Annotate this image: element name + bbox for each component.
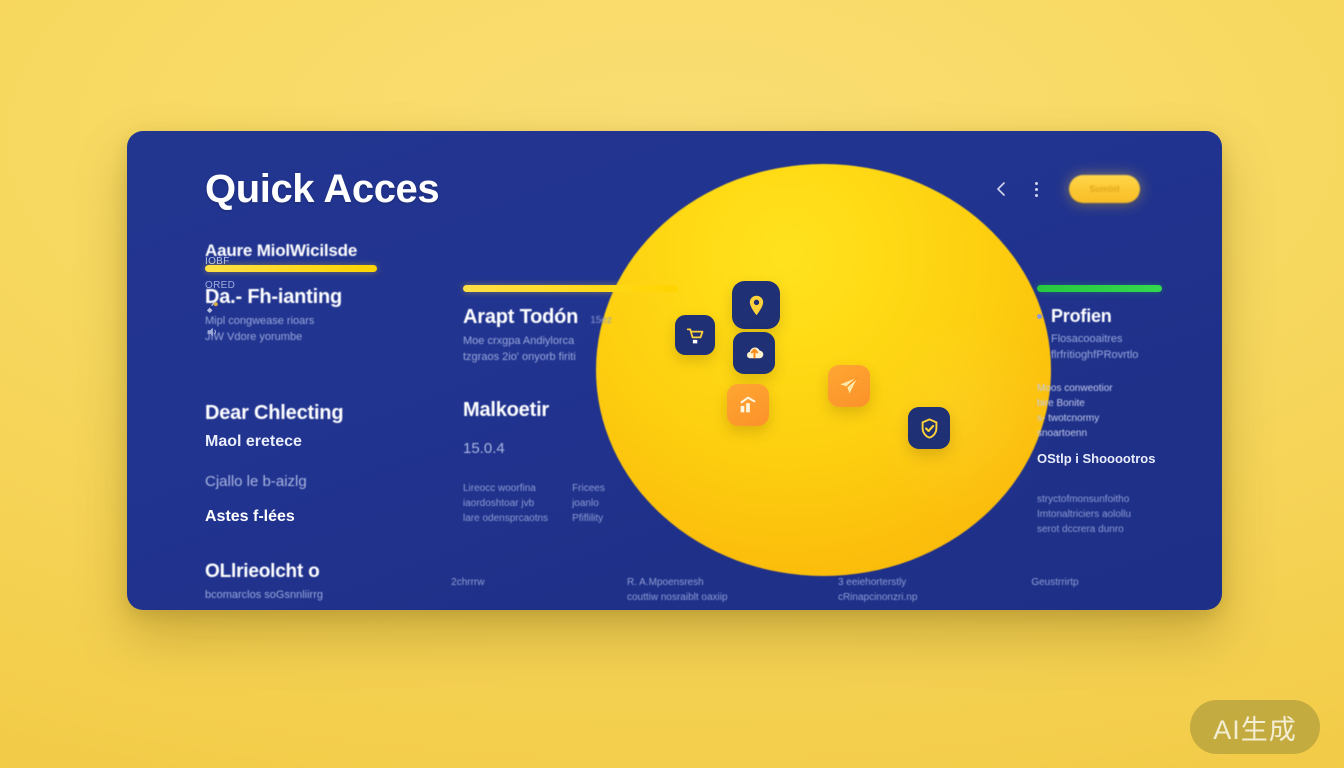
bottom-cell-3-line-1: cRinapcinonzri.np (838, 590, 1031, 605)
left-item-1[interactable]: Cjallo le b-aizlg (205, 473, 505, 490)
left-heading: Da.- Fh-ianting (205, 286, 505, 309)
right-body-3: snoartoenn (1037, 426, 1222, 441)
right-footer-0: stryctofmonsunfoitho (1037, 492, 1222, 507)
right-footer-2: serot dccrera dunro (1037, 522, 1222, 537)
dashboard-card: Quick Acces Sumbit IOBF ORED Aaure MiolW… (127, 131, 1222, 610)
right-body-2: s- twotcnormy (1037, 411, 1222, 426)
bottom-row: OLlrieolcht o bcomarclos soGsnnliirrg 2c… (205, 561, 1172, 605)
middle-detail-b-2: Pfiflility (572, 511, 605, 526)
bottom-primary: OLlrieolcht o bcomarclos soGsnnliirrg (205, 561, 451, 605)
right-heading: Profien (1051, 306, 1112, 327)
middle-detail-b-1: joanlo (572, 496, 605, 511)
bottom-cell-4: Geustrrirtp (1031, 561, 1172, 605)
right-footer-1: Imtonaltriciers aolollu (1037, 507, 1222, 522)
bullet-icon (1037, 314, 1042, 319)
left-item-2[interactable]: Astes f-lées (205, 508, 505, 526)
submit-button[interactable]: Sumbit (1069, 175, 1140, 203)
shield-app-icon[interactable] (908, 407, 950, 449)
bottom-sub: bcomarclos soGsnnliirrg (205, 588, 451, 604)
bottom-cell-4-line-0: Geustrrirtp (1031, 575, 1172, 590)
chevron-left-icon[interactable] (992, 180, 1010, 198)
header-controls: Sumbit (992, 175, 1140, 203)
page-title: Quick Acces (205, 167, 439, 212)
middle-heading: Arapt Todón (463, 306, 578, 329)
sphere-highlight (867, 311, 1057, 521)
column-right: Profien Flosacooaitres flrfritioghfPRovr… (1037, 241, 1222, 364)
middle-detail-0: Lireocc woorfina (463, 481, 548, 496)
left-eyebrow: Aaure MiolWicilsde (205, 241, 505, 261)
right-sub-0: Flosacooaitres (1051, 332, 1222, 348)
right-progress-bar (1037, 285, 1162, 292)
right-sub-1: flrfritioghfPRovrtlo (1051, 348, 1222, 364)
middle-detail-b-0: Fricees (572, 481, 605, 496)
chart-app-icon[interactable] (727, 384, 769, 426)
column-middle: Arapt Todón 15ez Moe crxgpa Andiylorca t… (463, 241, 763, 366)
middle-section: Malkoetir 15.0.4 (463, 399, 653, 457)
middle-section-heading[interactable]: Malkoetir (463, 399, 653, 422)
send-app-icon[interactable] (828, 365, 870, 407)
right-body-0: Moos conweotior (1037, 381, 1222, 396)
cloud-app-icon[interactable] (733, 332, 775, 374)
column-left: Aaure MiolWicilsde Da.- Fh-ianting Mipl … (205, 241, 505, 526)
bottom-cell-3-line-0: 3 eeiehorterstly (838, 575, 1031, 590)
middle-detail-block: Lireocc woorfina iaordoshtoar jvb lare o… (463, 481, 673, 526)
right-body-heading[interactable]: OStlp i Shooootros (1037, 451, 1222, 466)
left-progress-bar (205, 265, 377, 272)
middle-sub-0: Moe crxgpa Andiylorca (463, 334, 763, 350)
left-section-heading[interactable]: Dear Chlecting (205, 402, 505, 425)
location-app-icon[interactable] (732, 281, 780, 329)
left-section-sub: Maol eretece (205, 433, 505, 451)
bottom-cell-3: 3 eeiehorterstly cRinapcinonzri.np (838, 561, 1031, 605)
cart-app-icon[interactable] (675, 315, 715, 355)
left-sub-1: JIW Vdore yorumbe (205, 330, 505, 346)
middle-badge: 15ez (590, 313, 612, 328)
middle-sub-1: tzgraos 2io' onyorb firiti (463, 350, 763, 366)
right-body-1: bire Bonite (1037, 396, 1222, 411)
middle-detail-1: iaordoshtoar jvb (463, 496, 548, 511)
kebab-menu-icon[interactable] (1030, 179, 1043, 200)
bottom-cell-1: R. A.Mpoensresh couttiw nosraiblt oaxiip (627, 561, 838, 605)
bottom-cell-0-line-0: 2chrrrw (451, 575, 627, 590)
middle-detail-2: lare odensprcaotns (463, 511, 548, 526)
ai-watermark: AI生成 (1190, 700, 1320, 754)
middle-progress-bar (463, 285, 678, 292)
bottom-heading[interactable]: OLlrieolcht o (205, 561, 451, 583)
right-body: Moos conweotior bire Bonite s- twotcnorm… (1037, 381, 1222, 537)
left-sub-0: Mipl congwease rioars (205, 314, 505, 330)
middle-section-value: 15.0.4 (463, 440, 653, 457)
bottom-cell-2-line-0: couttiw nosraiblt oaxiip (627, 590, 838, 605)
bottom-cell-1-line-0: R. A.Mpoensresh (627, 575, 838, 590)
bottom-cell-0: 2chrrrw (451, 561, 627, 605)
